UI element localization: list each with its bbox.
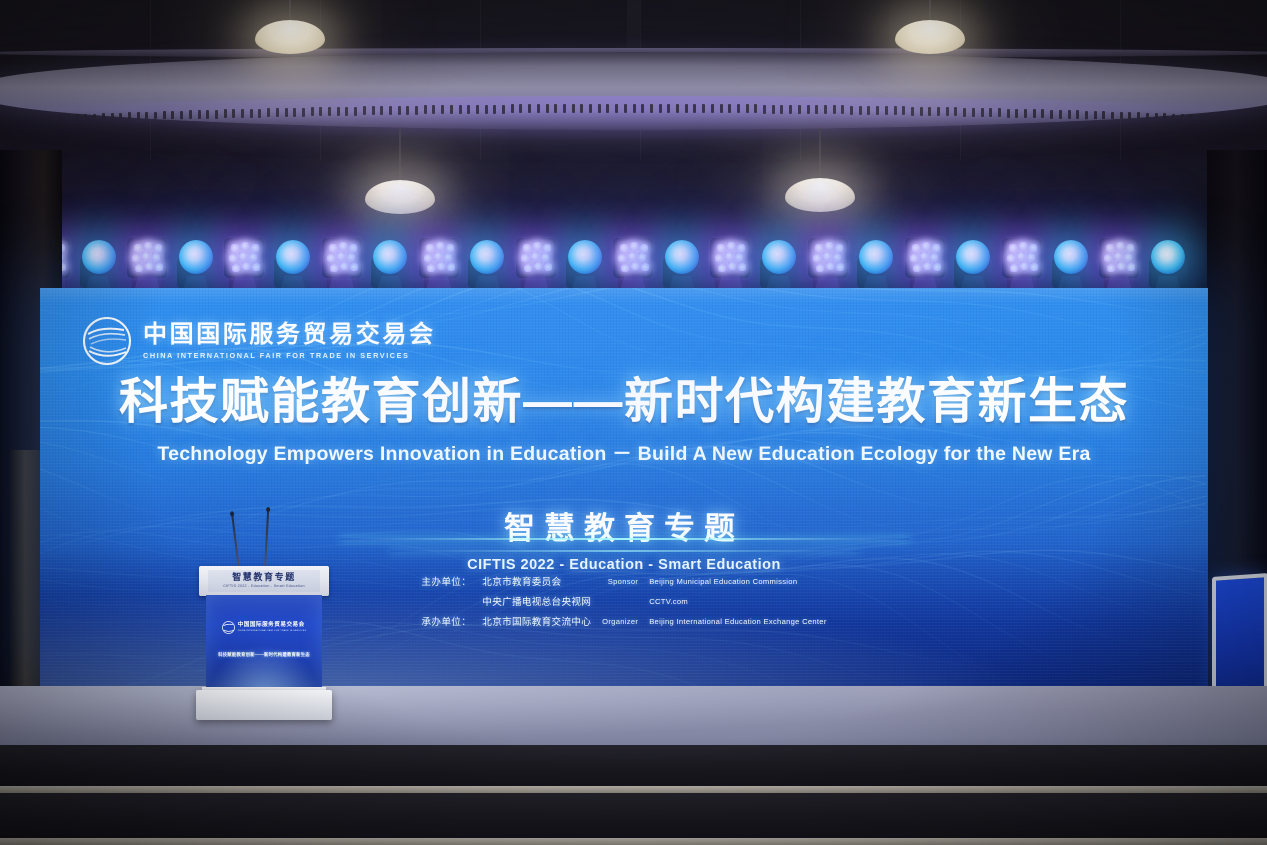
soffit-vent-dot <box>946 107 949 116</box>
step-nosing <box>0 838 1267 845</box>
credit-value-en: Beijing Municipal Education Commission <box>649 577 826 586</box>
soffit-vent-dot <box>58 115 61 122</box>
soffit-vent-dot <box>998 108 1001 117</box>
soffit-vent-dot <box>1102 111 1105 120</box>
soffit-vent-dot <box>1250 117 1253 122</box>
main-title-zh: 科技赋能教育创新——新时代构建教育新生态 <box>40 376 1208 429</box>
soffit-vent-dot <box>250 109 253 118</box>
soffit-vent-dot <box>789 105 792 114</box>
soffit-vent-dot <box>67 115 70 123</box>
credit-value-zh: 北京市教育委员会 <box>482 574 591 588</box>
soffit-vent-dot <box>354 107 357 116</box>
stage-step-upper <box>0 745 1267 793</box>
blue-beam-moving-head-icon <box>77 232 121 294</box>
soffit-vent-dot <box>1146 113 1149 122</box>
soffit-vent-dot <box>398 106 401 115</box>
soffit-vent-dot <box>406 106 409 115</box>
soffit-vent-dot <box>711 104 714 113</box>
soffit-vent-dot <box>293 108 296 117</box>
ciftis-name-zh: 中国国际服务贸易交易会 <box>143 323 436 347</box>
soffit-vent-dot <box>650 104 653 113</box>
soffit-vent-dot <box>598 104 601 113</box>
soffit-vent-dot <box>50 115 53 122</box>
soffit-vent-dot <box>685 104 688 113</box>
soffit-vent-dot <box>267 108 270 117</box>
soffit-vent-dot <box>258 109 261 118</box>
soffit-vent-dot <box>606 104 609 113</box>
blue-beam-moving-head-icon <box>368 232 412 294</box>
pendant-dome <box>895 20 965 54</box>
soffit-vent-dot <box>546 104 549 113</box>
ceiling-pendant-lamp-icon <box>255 0 325 28</box>
soffit-vent-dot <box>432 105 435 114</box>
soffit-vent-dot <box>32 116 35 122</box>
soffit-vent-dot <box>894 106 897 115</box>
soffit-vent-dot <box>1163 113 1166 122</box>
soffit-vent-dot <box>232 109 235 118</box>
podium-base <box>196 690 332 720</box>
blue-beam-moving-head-icon <box>174 232 218 294</box>
podium-logo-zh: 中国国际服务贸易交易会 <box>238 623 307 629</box>
podium-logo-en: CHINA INTERNATIONAL FAIR FOR TRADE IN SE… <box>238 630 307 632</box>
soffit-vent-dot <box>180 111 183 120</box>
podium-front-title: 科技赋能教育创新——新时代构建教育新生态 <box>206 653 322 657</box>
soffit-vent-dot <box>1041 109 1044 118</box>
soffit-vent-dot <box>415 106 418 115</box>
soffit-vent-dot <box>624 104 627 113</box>
main-title-en: Technology Empowers Innovation in Educat… <box>40 437 1208 466</box>
soffit-vent-dot <box>824 105 827 114</box>
ceiling-pendant-lamp-icon <box>895 0 965 28</box>
purple-par-light-icon <box>320 232 364 294</box>
soffit-vent-dot <box>1120 112 1123 121</box>
pendant-dome <box>255 20 325 54</box>
soffit-vent-dot <box>302 108 305 117</box>
soffit-vent-dot <box>1233 116 1236 122</box>
soffit-vent-dot <box>224 109 227 118</box>
soffit-vent-dot <box>137 112 140 121</box>
soffit-vent-dot <box>1198 115 1201 123</box>
speaker-podium: 智慧教育专题 CIFTIS 2022 - Education - Smart E… <box>196 566 332 720</box>
soffit-vent-dot <box>1259 117 1262 122</box>
soffit-vent-dot <box>171 111 174 120</box>
soffit-vent-dot <box>1224 116 1227 123</box>
ciftis-circular-swoosh-logo-icon <box>222 621 235 634</box>
purple-par-light-icon <box>1097 232 1141 294</box>
soffit-vent-dot <box>737 104 740 113</box>
soffit-vent-dot <box>15 117 18 122</box>
soffit-vent-dot <box>1181 114 1184 122</box>
blue-beam-moving-head-icon <box>563 232 607 294</box>
soffit-vent-dot <box>1094 111 1097 120</box>
credit-value-en: CCTV.com <box>649 597 826 606</box>
soffit-vent-dot <box>1242 116 1245 122</box>
step-nosing <box>0 786 1267 793</box>
purple-par-light-icon <box>611 232 655 294</box>
soffit-vent-dot <box>363 106 366 115</box>
soffit-vent-dot <box>311 107 314 116</box>
soffit-vent-dot <box>537 104 540 113</box>
soffit-vent-dot <box>485 105 488 114</box>
soffit-vent-dot <box>189 110 192 119</box>
soffit-vent-dot <box>111 113 114 122</box>
soffit-vent-dot <box>772 105 775 114</box>
soffit-vent-dot <box>780 105 783 114</box>
soffit-vent-dot <box>633 104 636 113</box>
soffit-vent-dot <box>119 113 122 122</box>
soffit-vent-dot <box>902 106 905 115</box>
soffit-vent-dot <box>1024 109 1027 118</box>
soffit-vent-dot <box>1068 110 1071 119</box>
soffit-vent-dot <box>1207 115 1210 122</box>
stage-scene: CIFTIS 中国国际服务贸易交易会 CHINA INTERNATIONAL F… <box>0 0 1267 845</box>
soffit-vent-dot <box>859 106 862 115</box>
soffit-vent-dot <box>850 106 853 115</box>
soffit-vent-dot <box>1155 113 1158 122</box>
credit-label-en: Sponsor <box>602 577 638 586</box>
divider-line-upper <box>340 538 910 540</box>
soffit-vent-dot <box>441 105 444 114</box>
soffit-vent-dot <box>1189 114 1192 122</box>
pendant-dome <box>785 178 855 212</box>
soffit-vent-dot <box>728 104 731 113</box>
soffit-vent-dot <box>693 104 696 113</box>
blue-beam-moving-head-icon <box>1049 232 1093 294</box>
stage-step-lower <box>0 793 1267 845</box>
soffit-vent-dot <box>1172 114 1175 122</box>
podium-panel-glow <box>206 643 322 689</box>
soffit-vent-dot <box>1128 112 1131 121</box>
soffit-vent-dot <box>528 104 531 113</box>
soffit-vent-dot <box>459 105 462 114</box>
purple-par-light-icon <box>806 232 850 294</box>
soffit-vent-dot <box>972 108 975 117</box>
blue-beam-moving-head-icon <box>660 232 704 294</box>
soffit-vent-dot <box>763 105 766 114</box>
soffit-vent-dot <box>154 112 157 121</box>
soffit-vent-dot <box>720 104 723 113</box>
purple-par-light-icon <box>417 232 461 294</box>
soffit-vent-dot <box>476 105 479 114</box>
soffit-vent-dot <box>1085 111 1088 120</box>
pendant-cord <box>399 128 401 188</box>
soffit-vent-dot <box>1033 109 1036 118</box>
soffit-vent-dot <box>641 104 644 113</box>
stage-light-bar <box>0 232 1267 294</box>
soffit-vent-dot <box>519 104 522 113</box>
soffit-vent-dot <box>328 107 331 116</box>
soffit-vent-dot <box>841 105 844 114</box>
credit-label-en: Organizer <box>602 617 638 626</box>
credit-value-en: Beijing International Education Exchange… <box>649 617 826 626</box>
blue-beam-moving-head-icon <box>757 232 801 294</box>
soffit-vent-dot <box>798 105 801 114</box>
microphone-capsule <box>266 507 270 512</box>
podium-front-panel: 中国国际服务贸易交易会 CHINA INTERNATIONAL FAIR FOR… <box>206 595 322 689</box>
soffit-vent-dot <box>1076 110 1079 119</box>
soffit-vent-dot <box>24 116 27 122</box>
soffit-vent-dot <box>981 108 984 117</box>
ciftis-circular-swoosh-logo-icon: CIFTIS <box>82 316 132 366</box>
purple-par-light-icon <box>125 232 169 294</box>
divider-line-lower <box>390 550 860 552</box>
soffit-vent-dot <box>450 105 453 114</box>
credit-label-zh: 承办单位： <box>421 614 471 628</box>
soffit-vent-dot <box>963 108 966 117</box>
purple-par-light-icon <box>514 232 558 294</box>
soffit-vent-dot <box>659 104 662 113</box>
soffit-vent-dot <box>6 117 9 122</box>
screen-top-highlight <box>40 288 1208 304</box>
soffit-vent-dot <box>380 106 383 115</box>
soffit-vent-dot <box>1111 112 1114 121</box>
soffit-vent-dot <box>337 107 340 116</box>
soffit-vent-dot <box>937 107 940 116</box>
soffit-vent-dot <box>676 104 679 113</box>
soffit-vent-dot <box>285 108 288 117</box>
ceiling-pendant-lamp-icon <box>785 128 855 186</box>
purple-par-light-icon <box>903 232 947 294</box>
soffit-vent-dot <box>615 104 618 113</box>
soffit-vent-dot <box>467 105 470 114</box>
soffit-vent-dot <box>502 105 505 114</box>
soffit-vent-dot <box>128 112 131 121</box>
soffit-vent-dot <box>554 104 557 113</box>
soffit-vent-dot <box>1015 109 1018 118</box>
podium-logo-block: 中国国际服务贸易交易会 CHINA INTERNATIONAL FAIR FOR… <box>206 621 322 634</box>
purple-par-light-icon <box>708 232 752 294</box>
soffit-vent-dot <box>93 114 96 122</box>
soffit-vent-dot <box>667 104 670 113</box>
soffit-vent-dot <box>954 107 957 116</box>
soffit-vent-dot <box>76 114 79 122</box>
soffit-vent-dot <box>1007 109 1010 118</box>
soffit-vent-dot <box>493 105 496 114</box>
soffit-vent-dot <box>867 106 870 115</box>
blue-beam-moving-head-icon <box>854 232 898 294</box>
soffit-vent-dot <box>876 106 879 115</box>
soffit-vent-dots <box>0 100 1267 122</box>
soffit-vent-dot <box>319 107 322 116</box>
soffit-vent-dot <box>885 106 888 115</box>
credit-value-zh: 中央广播电视总台央视网 <box>482 594 591 608</box>
soffit-vent-dot <box>145 112 148 121</box>
soffit-vent-dot <box>833 105 836 114</box>
soffit-vent-dot <box>372 106 375 115</box>
soffit-vent-dot <box>198 110 201 119</box>
soffit-vent-dot <box>754 104 757 113</box>
soffit-vent-dot <box>989 108 992 117</box>
podium-sign: 智慧教育专题 CIFTIS 2022 - Education - Smart E… <box>208 570 320 592</box>
soffit-vent-dot <box>424 105 427 114</box>
soffit-vent-dot <box>1059 110 1062 119</box>
soffit-vent-dot <box>815 105 818 114</box>
soffit-vent-dot <box>163 111 166 120</box>
soffit-vent-dot <box>746 104 749 113</box>
podium-sign-en: CIFTIS 2022 - Education - Smart Educatio… <box>223 585 305 589</box>
soffit-vent-dot <box>84 114 87 122</box>
blue-beam-moving-head-icon <box>1146 232 1190 294</box>
soffit-vent-dot <box>572 104 575 113</box>
soffit-vent-dot <box>928 107 931 116</box>
blue-beam-moving-head-icon <box>465 232 509 294</box>
ceiling-pendant-lamp-icon <box>365 128 435 188</box>
ciftis-logo-block: CIFTIS 中国国际服务贸易交易会 CHINA INTERNATIONAL F… <box>82 316 436 366</box>
soffit-vent-dot <box>920 107 923 116</box>
soffit-vent-dot <box>702 104 705 113</box>
purple-par-light-icon <box>1000 232 1044 294</box>
soffit-vent-dot <box>345 107 348 116</box>
soffit-vent-dot <box>389 106 392 115</box>
soffit-vent-dot <box>1050 110 1053 119</box>
microphone-capsule <box>230 511 235 516</box>
soffit-vent-dot <box>241 109 244 118</box>
soffit-vent-dot <box>276 108 279 117</box>
blue-beam-moving-head-icon <box>951 232 995 294</box>
soffit-vent-dot <box>511 104 514 113</box>
purple-par-light-icon <box>222 232 266 294</box>
podium-sign-zh: 智慧教育专题 <box>232 573 296 582</box>
soffit-vent-dot <box>102 113 105 122</box>
soffit-vent-dot <box>911 107 914 116</box>
soffit-vent-dot <box>580 104 583 113</box>
soffit-vent-dot <box>1215 115 1218 122</box>
topic-title-zh: 智慧教育专题 <box>40 503 1208 548</box>
ciftis-name-en: CHINA INTERNATIONAL FAIR FOR TRADE IN SE… <box>143 351 436 360</box>
credit-label-zh: 主办单位： <box>421 574 471 588</box>
soffit-vent-dot <box>807 105 810 114</box>
soffit-vent-dot <box>41 116 44 123</box>
screen-title-block: 科技赋能教育创新——新时代构建教育新生态 Technology Empowers… <box>40 376 1208 573</box>
credit-value-zh: 北京市国际教育交流中心 <box>482 614 591 628</box>
soffit-vent-dot <box>215 110 218 119</box>
soffit-vent-dot <box>1137 112 1140 121</box>
blue-beam-moving-head-icon <box>271 232 315 294</box>
soffit-vent-dot <box>206 110 209 119</box>
soffit-vent-dot <box>589 104 592 113</box>
soffit-vent-dot <box>563 104 566 113</box>
pendant-dome <box>365 180 435 214</box>
